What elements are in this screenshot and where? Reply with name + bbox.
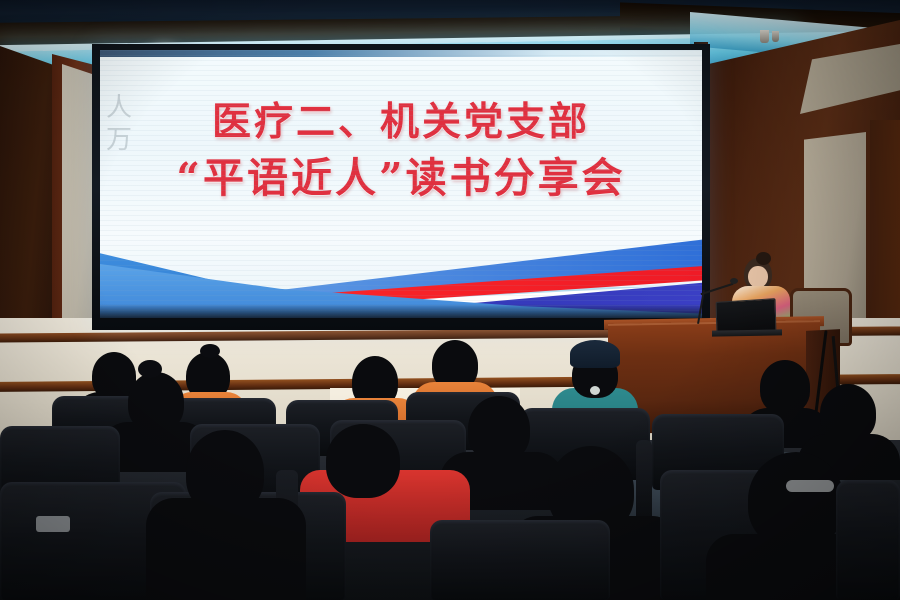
ceiling-speaker-icon [760,30,769,43]
speaker-hair-bun [756,252,771,265]
attendee-head [326,424,400,498]
audience-seat [430,520,610,600]
screen-title-line-1: 医疗二、机关党支部 [100,98,702,146]
laptop-base [712,329,782,336]
screen-bottom-shadow [100,304,702,318]
attendee-collar [590,386,600,395]
attendee-hair-bun [138,360,162,378]
audience-seat [836,480,900,600]
microphone-icon [730,278,738,284]
attendee-badge [36,516,70,532]
attendee-shoulders [146,498,306,600]
conference-room-photo: 人 万 医疗二、机关党支部 “平语近人”读书分享会 [0,0,900,600]
ceiling-speaker-icon [772,31,779,42]
led-screen[interactable]: 人 万 医疗二、机关党支部 “平语近人”读书分享会 [100,50,702,318]
attendee-head [760,360,810,414]
screen-top-edge [100,50,702,57]
attendee-hair-bun [200,344,220,358]
right-wall-strip [870,120,900,340]
screen-title-block: 医疗二、机关党支部 “平语近人”读书分享会 [100,98,702,204]
attendee-cap [570,340,620,368]
screen-title-line-2: “平语近人”读书分享会 [100,152,702,204]
speaker-face [748,266,768,288]
attendee-badge [786,480,834,492]
